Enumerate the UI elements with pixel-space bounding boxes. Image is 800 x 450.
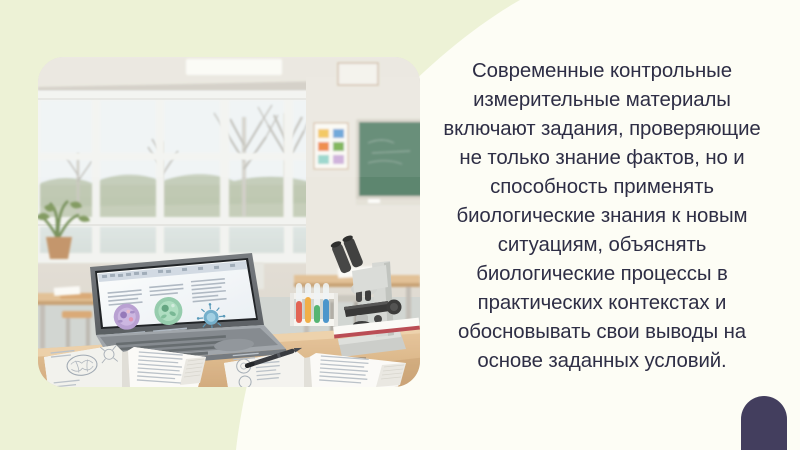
classroom-photo-illustration — [38, 57, 420, 387]
slide-body-text: Современные контрольные измерительные ма… — [432, 57, 772, 376]
arch-decoration — [741, 396, 787, 450]
slide-canvas: Современные контрольные измерительные ма… — [0, 0, 800, 450]
classroom-photo-card — [38, 57, 420, 387]
slide-text-block: Современные контрольные измерительные ма… — [424, 57, 780, 367]
